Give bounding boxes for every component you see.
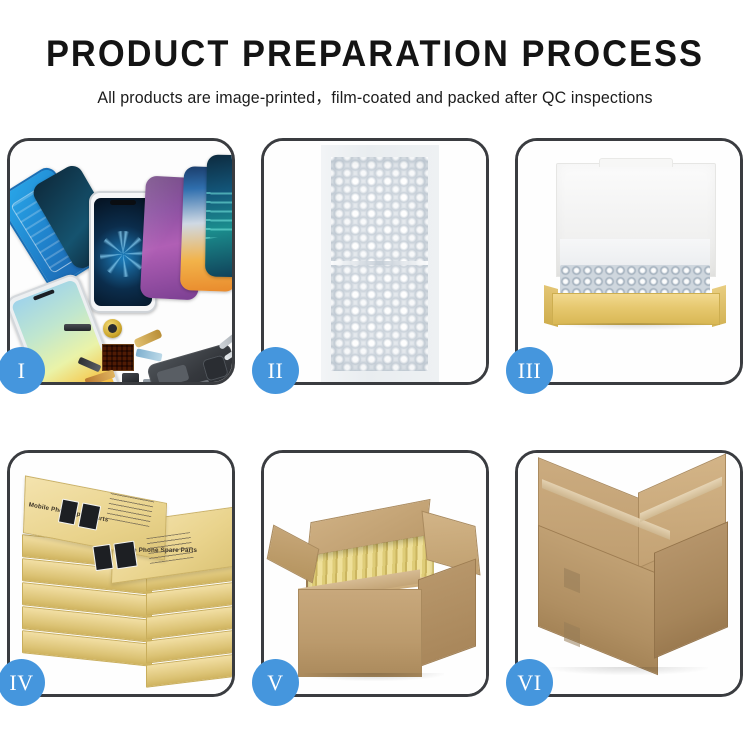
step-card-iv[interactable]: Mobile Phone Spare Parts Mobile Phone Sp… — [7, 450, 235, 697]
carton-shadow — [304, 673, 444, 681]
box-screen-image — [92, 544, 113, 571]
bubble-items-in-box-graphic — [560, 265, 710, 295]
chip-array-part — [102, 344, 134, 371]
box-stack-graphic: Mobile Phone Spare Parts Mobile Phone Sp… — [16, 479, 232, 679]
carton-front-panel — [298, 589, 422, 677]
inner-box-scene — [518, 141, 740, 382]
back-housing-part — [146, 342, 232, 382]
flex-cable-part — [135, 348, 162, 361]
earpiece-mesh-part — [64, 324, 91, 331]
speaker-coil-part — [103, 319, 122, 338]
step-card-iii[interactable]: III — [515, 138, 743, 385]
bubble-wrap-scene — [264, 141, 486, 382]
step-card-ii[interactable]: II — [261, 138, 489, 385]
carton-shadow — [548, 667, 708, 675]
step-badge-i: I — [0, 347, 45, 394]
step-badge-iv: IV — [0, 659, 45, 706]
box-shadow — [558, 323, 712, 330]
step-badge-vi: VI — [506, 659, 553, 706]
page-title: PRODUCT PREPARATION PROCESS — [26, 33, 724, 75]
step-image-ii — [264, 141, 486, 382]
wrap-seam-graphic — [331, 261, 428, 265]
step-image-iii — [518, 141, 740, 382]
page-subtitle: All products are image-printed，film-coat… — [11, 84, 739, 108]
retail-box-stack-scene: Mobile Phone Spare Parts Mobile Phone Sp… — [10, 453, 232, 694]
step-badge-iii: III — [506, 347, 553, 394]
phone-notch-icon — [110, 200, 136, 205]
box-front-panel-graphic — [552, 293, 720, 325]
phone-screen-wave-graphic — [205, 155, 232, 278]
step-card-vi[interactable]: VI — [515, 450, 743, 697]
step-image-v — [264, 453, 486, 694]
carton-filling-scene — [264, 453, 486, 694]
flex-cable-part — [133, 329, 162, 349]
step-badge-v: V — [252, 659, 299, 706]
screwdriver-tool — [218, 322, 232, 350]
step-image-i — [10, 141, 232, 382]
product-preparation-infographic: PRODUCT PREPARATION PROCESS All products… — [0, 0, 750, 750]
box-screen-image — [113, 541, 137, 570]
step-image-vi — [518, 453, 740, 694]
sealed-carton-scene — [518, 453, 740, 694]
camera-module-part — [122, 373, 139, 382]
process-steps-grid: I II — [0, 118, 750, 750]
header: PRODUCT PREPARATION PROCESS All products… — [0, 0, 750, 118]
phone-parts-scene — [10, 141, 232, 382]
step-card-i[interactable]: I — [7, 138, 235, 385]
step-badge-ii: II — [252, 347, 299, 394]
step-card-v[interactable]: V — [261, 450, 489, 697]
step-image-iv: Mobile Phone Spare Parts Mobile Phone Sp… — [10, 453, 232, 694]
